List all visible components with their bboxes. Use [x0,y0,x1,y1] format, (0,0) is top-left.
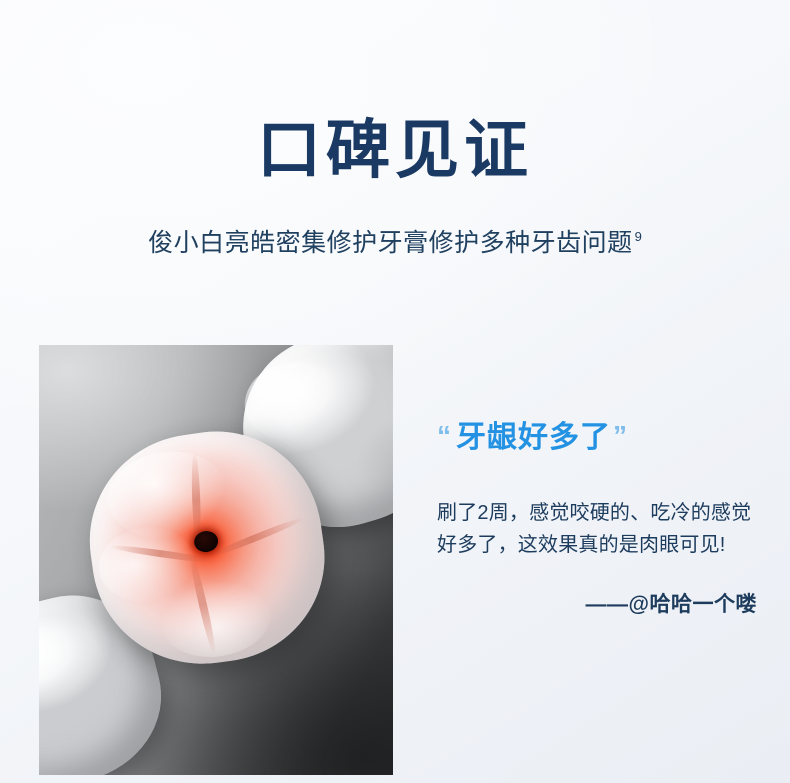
page-subtitle: 俊小白亮皓密集修护牙膏修护多种牙齿问题9 [0,228,790,258]
cavity-hole [193,530,220,554]
quote-open-icon: “ [437,420,452,451]
testimonial-quote-text: 牙龈好多了 [456,421,611,454]
testimonial-body: 刷了2周，感觉咬硬的、吃冷的感觉好多了，这效果真的是肉眼可见! [437,497,759,562]
subtitle-footnote-marker: 9 [635,229,642,244]
page-subtitle-text: 俊小白亮皓密集修护牙膏修护多种牙齿问题 [148,229,633,257]
testimonial-block: “牙龈好多了” 刷了2周，感觉咬硬的、吃冷的感觉好多了，这效果真的是肉眼可见! … [437,418,757,457]
tooth-cusp-highlight [39,617,82,706]
tooth-cusp-shadow [345,409,393,500]
page-title: 口碑见证 [0,118,790,182]
promo-page: 口碑见证 俊小白亮皓密集修护牙膏修护多种牙齿问题9 “牙龈好多 [0,0,790,783]
testimonial-author: ——@哈哈一个喽 [437,591,757,618]
testimonial-headline: “牙龈好多了” [437,418,757,457]
tooth-photo [39,345,393,775]
tooth-fissure [207,515,306,560]
quote-close-icon: ” [613,420,628,451]
